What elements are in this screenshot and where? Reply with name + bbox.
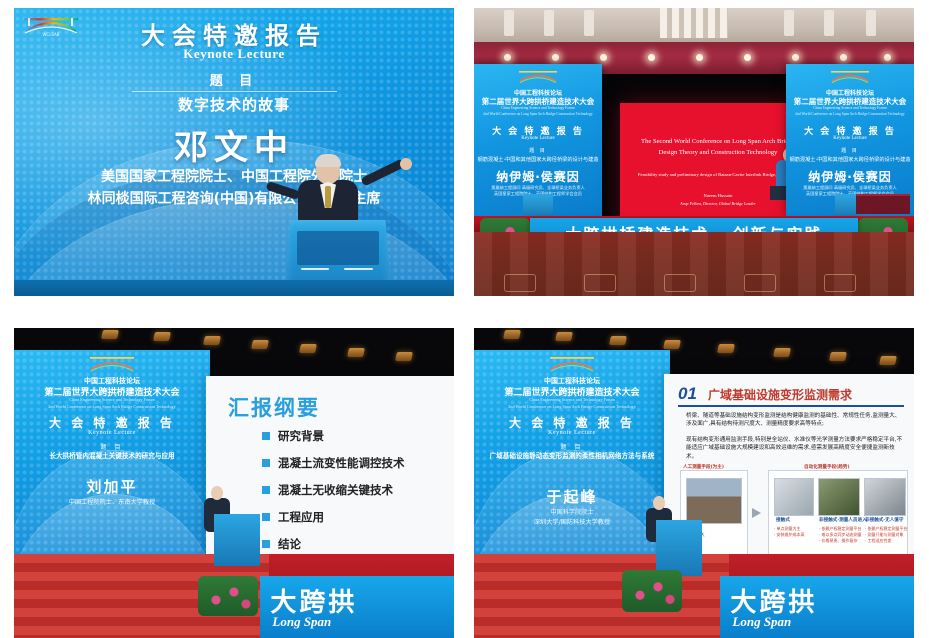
panel4-item-caption-0: 接触式 <box>776 517 790 523</box>
panel4-manual-caption: 人工测量手段(为主) <box>683 464 724 470</box>
bullet-icon <box>262 432 270 440</box>
panel1-speaker-name: 邓文中 <box>14 120 454 169</box>
panel3-affiliation: 中国工程院院士、东南大学教授 <box>14 498 210 508</box>
side-left-podium-graphic <box>523 194 553 216</box>
panel3-podium <box>214 514 260 566</box>
panel4-affiliation: 中国科学院院士 深圳大学/国防科技大学教授 <box>474 508 670 528</box>
list-item: 工程应用 <box>262 509 405 525</box>
panel3-item-0: 研究背景 <box>278 428 324 444</box>
side-right-line4: 2nd World Conference on Long Span Arch B… <box>786 112 914 116</box>
panel4-slide-number: 01 <box>678 384 697 404</box>
side-left-topic-label: 题 目 <box>474 147 602 154</box>
photo-panel-4: 中国工程科技论坛 第二届世界大跨拱桥建造技术大会 China Engineeri… <box>474 328 914 638</box>
panel4-photo-handheld <box>774 478 814 516</box>
panel4-screen-logo <box>546 354 598 375</box>
panel2-head-table <box>856 194 910 214</box>
photo-panel-2: 中国工程科技论坛 第二届世界大跨拱桥建造技术大会 China Engineeri… <box>474 8 914 296</box>
photo-panel-1: WCLSAB 大会特邀报告 Keynote Lecture 题 目 数字技术的故… <box>14 8 454 296</box>
side-screen-logo-left <box>516 68 560 86</box>
panel4-keynote-en: Keynote Lecture <box>474 430 670 436</box>
side-left-line4: 2nd World Conference on Long Span Arch B… <box>474 112 602 116</box>
panel4-bullet-1: 桥梁、隧道等基础设施结构变形监测是结构健康监测的基础性、常规性任务,监测量大、涉… <box>686 412 904 429</box>
panel3-screen-logo <box>86 354 138 375</box>
list-item: 混凝土无收缩关键技术 <box>262 482 405 498</box>
panel4-auto-caption: 自动化测量手段(趋势) <box>804 464 850 470</box>
panel4-slide-rule <box>678 405 904 407</box>
panel3-flowers <box>198 576 258 616</box>
photo-panel-3: 中国工程科技论坛 第二届世界大跨拱桥建造技术大会 China Engineeri… <box>14 328 454 638</box>
panel1-keynote-title-en: Keynote Lecture <box>14 46 454 62</box>
panel4-item-caption-1: 非接触式·测量人员进入 <box>819 517 867 523</box>
panel4-note-2: · 依赖产权稳定测量平台 · 测量只能与测量对象 · 工程适应性差 <box>865 526 908 545</box>
panel4-speaker: 于起峰 <box>474 486 670 507</box>
arrow-icon <box>752 508 761 518</box>
panel4-podium <box>656 520 702 576</box>
panel3-low-banner: 大跨拱 Long Span <box>260 576 454 638</box>
panel4-topic-label: 题 目 <box>474 442 670 451</box>
list-item: 混凝土流变性能调控技术 <box>262 455 405 471</box>
side-right-speaker: 纳伊姆·侯赛因 <box>786 168 914 185</box>
panel3-speaker: 刘加平 <box>14 476 210 497</box>
panel4-screen-line3: China Engineering Science and Technology… <box>474 397 670 402</box>
panel1-topic-label: 题 目 <box>14 70 454 89</box>
panel3-screen-line4: 2nd World Conference on Long Span Arch B… <box>14 404 210 409</box>
panel3-item-1: 混凝土流变性能调控技术 <box>278 455 405 471</box>
panel3-item-3: 工程应用 <box>278 509 324 525</box>
panel4-note-0: · 单点测量为主 · 安装维护成本高 <box>774 526 805 538</box>
panel4-keynote-cn: 大 会 特 邀 报 告 <box>474 414 670 431</box>
stage-floor <box>14 280 454 296</box>
bullet-icon <box>262 486 270 494</box>
panel1-divider <box>132 91 337 92</box>
panel3-item-4: 结论 <box>278 536 301 552</box>
hall-ceiling <box>474 8 914 42</box>
side-screen-logo-right <box>828 68 872 86</box>
side-left-keynote-en: Keynote Lecture <box>474 136 602 141</box>
panel4-item-caption-2: 非接触式·无人值守 <box>865 517 904 523</box>
side-left-speaker: 纳伊姆·侯赛因 <box>474 168 602 185</box>
side-right-keynote-en: Keynote Lecture <box>786 136 914 141</box>
panel4-slide-title: 广域基础设施变形监测需求 <box>708 386 852 403</box>
panel4-topic: 广域基础设施静动态变形监测的柔性相机网络方法与系统 <box>476 452 668 462</box>
panel3-topic-label: 题 目 <box>14 442 210 451</box>
panel4-led-screen: 中国工程科技论坛 第二届世界大跨拱桥建造技术大会 China Engineeri… <box>474 350 670 568</box>
panel1-affiliation-2: 林同棪国际工程咨询(中国)有限公司董事会主席 <box>14 188 454 208</box>
side-right-line3: China Engineering Science and Technology… <box>786 106 914 110</box>
carpet <box>474 232 914 296</box>
panel3-keynote-en: Keynote Lecture <box>14 430 210 436</box>
list-item: 研究背景 <box>262 428 405 444</box>
panel3-screen-line3: China Engineering Science and Technology… <box>14 397 210 402</box>
panel4-note-1: · 依赖产权稳定测量平台 · 难以多点同步动态测量 · 价格昂贵、操作复杂 <box>819 526 862 545</box>
panel3-slide-list: 研究背景 混凝土流变性能调控技术 混凝土无收缩关键技术 工程应用 结论 <box>262 428 405 563</box>
panel4-low-banner-en: Long Span <box>732 614 791 630</box>
side-right-topic-label: 题 目 <box>786 147 914 154</box>
panel4-low-banner: 大跨拱 Long Span <box>720 576 914 638</box>
bullet-icon <box>262 459 270 467</box>
side-right-topic: 钢筋混凝土·中国和其他国家大跨径桥梁的设计与建造 <box>786 156 914 163</box>
panel3-led-screen: 中国工程科技论坛 第二届世界大跨拱桥建造技术大会 China Engineeri… <box>14 350 210 568</box>
panel4-photo-total-station <box>818 478 860 516</box>
panel3-slide-title: 汇报纲要 <box>228 392 320 422</box>
list-item: 结论 <box>262 536 405 552</box>
panel3-keynote-cn: 大 会 特 邀 报 告 <box>14 414 210 431</box>
photo-collage: WCLSAB 大会特邀报告 Keynote Lecture 题 目 数字技术的故… <box>0 0 929 638</box>
panel4-photo-camera <box>864 478 906 516</box>
side-left-topic: 钢筋混凝土·中国和其他国家大跨径桥梁的设计与建造 <box>474 156 602 163</box>
bullet-icon <box>262 540 270 548</box>
panel3-low-banner-en: Long Span <box>272 614 331 630</box>
side-screen-left: 中国工程科技论坛 第二届世界大跨拱桥建造技术大会 China Engineeri… <box>474 64 602 216</box>
panel4-photo-rail <box>686 478 742 524</box>
main-slide-role: Arup Fellow, Director, Global Bridge Lea… <box>636 201 800 206</box>
panel3-topic: 长大拱桥管内混凝土关键技术的研究与应用 <box>16 452 208 462</box>
bullet-icon <box>262 513 270 521</box>
panel1-topic: 数字技术的故事 <box>14 94 454 115</box>
panel4-flowers <box>622 570 682 612</box>
panel4-screen-line4: 2nd World Conference on Long Span Arch B… <box>474 404 670 409</box>
panel4-bullet-2: 现有结构变形通用监测手段,特别是全站仪、水准仪等光学测量方法要求严格稳定平台,不… <box>686 436 904 461</box>
side-left-line3: China Engineering Science and Technology… <box>474 106 602 110</box>
panel3-item-2: 混凝土无收缩关键技术 <box>278 482 393 498</box>
